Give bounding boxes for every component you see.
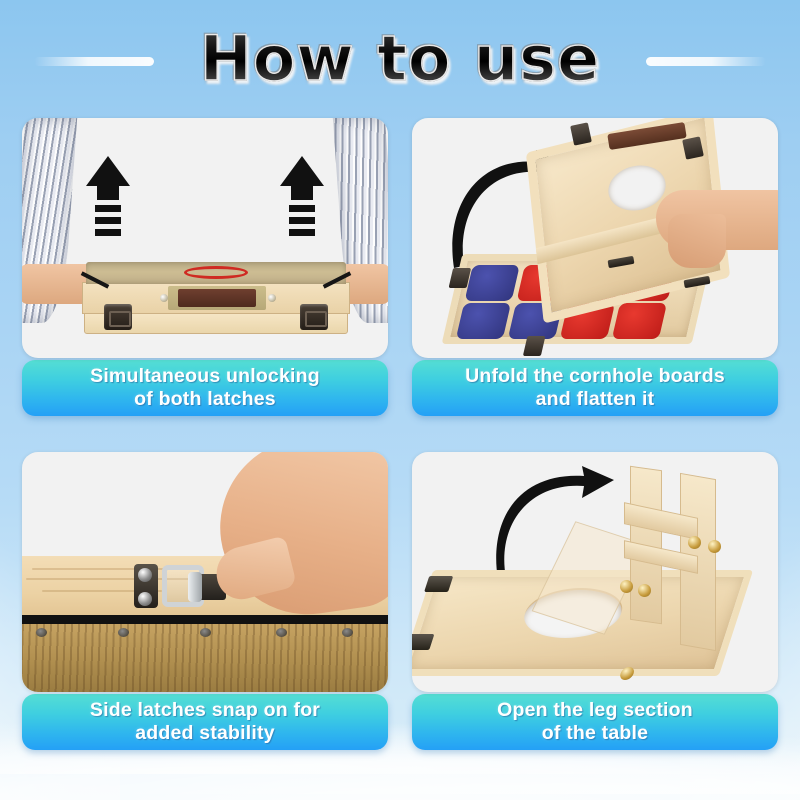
step-4-photo — [412, 452, 778, 692]
step-4-caption: Open the leg section of the table — [412, 694, 778, 750]
page-title-wrap: How to use — [0, 22, 800, 95]
arrow-dash — [95, 229, 121, 236]
arrow-dash — [95, 217, 121, 224]
screw — [268, 294, 276, 302]
case-top-surface — [86, 262, 346, 284]
wood-grain — [32, 568, 182, 570]
step-2-caption-line1: Unfold the cornhole boards — [465, 365, 725, 387]
arrow-stem — [291, 186, 313, 200]
screw — [138, 592, 152, 606]
latch-right — [300, 304, 328, 330]
step-panel-1: Simultaneous unlocking of both latches — [22, 118, 388, 416]
red-target-ring — [184, 266, 248, 279]
nail-head — [342, 628, 353, 637]
screw — [638, 584, 651, 597]
bean-bag-blue — [456, 303, 511, 339]
step-3-caption-line2: added stability — [135, 722, 275, 744]
step-panel-4: Open the leg section of the table — [412, 452, 778, 750]
arrow-head — [86, 156, 130, 186]
step-2-caption: Unfold the cornhole boards and flatten i… — [412, 360, 778, 416]
nail-head — [118, 628, 129, 637]
arrow-stem — [97, 186, 119, 200]
step-3-photo — [22, 452, 388, 692]
screw — [688, 536, 701, 549]
latch-left — [104, 304, 132, 330]
step-2-caption-line2: and flatten it — [536, 388, 655, 410]
step-2-caption-text: Unfold the cornhole boards and flatten i… — [465, 365, 725, 412]
step-1-caption-line1: Simultaneous unlocking — [90, 365, 320, 387]
nail-head — [276, 628, 287, 637]
bean-bag-red — [612, 303, 667, 339]
nail-head — [200, 628, 211, 637]
arrow-up-icon-right — [280, 156, 324, 236]
step-4-caption-line2: of the table — [542, 722, 648, 744]
screw — [708, 540, 721, 553]
step-1-caption-line2: of both latches — [134, 388, 276, 410]
screw — [160, 294, 168, 302]
step-3-caption-line1: Side latches snap on for — [90, 699, 320, 721]
step-panel-3: Side latches snap on for added stability — [22, 452, 388, 750]
arrow-dash — [289, 205, 315, 212]
step-3-caption-text: Side latches snap on for added stability — [90, 699, 320, 746]
arrow-head — [280, 156, 324, 186]
latch-roller — [188, 572, 202, 602]
arrow-dash — [289, 217, 315, 224]
step-4-caption-text: Open the leg section of the table — [497, 699, 693, 746]
step-panel-2: Unfold the cornhole boards and flatten i… — [412, 118, 778, 416]
lid-clip-right — [682, 136, 704, 159]
folded-cornhole-case — [82, 262, 350, 334]
fingers — [668, 214, 726, 268]
step-4-caption-line1: Open the leg section — [497, 699, 693, 721]
arrow-dash — [289, 229, 315, 236]
step-1-caption: Simultaneous unlocking of both latches — [22, 360, 388, 416]
page-title: How to use — [200, 22, 600, 95]
step-1-photo — [22, 118, 388, 358]
case-handle — [178, 289, 256, 307]
bean-bag-blue — [465, 265, 520, 301]
screw — [620, 580, 633, 593]
steps-grid: Simultaneous unlocking of both latches — [22, 118, 778, 750]
latch-clip — [523, 336, 546, 356]
nail-head — [36, 628, 47, 637]
step-1-caption-text: Simultaneous unlocking of both latches — [90, 365, 320, 412]
arrow-dash — [95, 205, 121, 212]
screw — [138, 568, 152, 582]
step-2-photo — [412, 118, 778, 358]
lid-clip-left — [570, 122, 592, 145]
step-3-caption: Side latches snap on for added stability — [22, 694, 388, 750]
arrow-up-icon-left — [86, 156, 130, 236]
